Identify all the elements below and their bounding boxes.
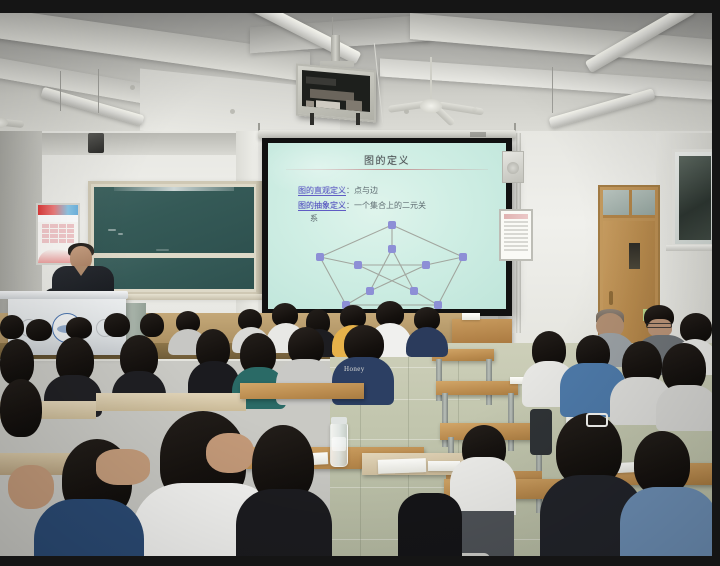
letterbox-bottom [0, 556, 720, 566]
speaker-cone-icon [507, 162, 519, 174]
chalkboard-lower-panel [94, 258, 254, 289]
student-desk [436, 381, 518, 395]
foreground-student-shirt [34, 499, 144, 556]
projector-part [306, 76, 336, 86]
notice-row [504, 233, 528, 235]
projector-cage [296, 64, 376, 123]
backpack [530, 409, 552, 455]
window-sill [666, 245, 712, 251]
notice-row [504, 241, 528, 243]
chalk-dust [114, 187, 234, 191]
light-hanger-wire [60, 71, 61, 111]
fluorescent-tube-light [549, 88, 656, 128]
fan-hub [420, 99, 442, 113]
desk-front-panel [96, 393, 246, 411]
student-shirt [656, 385, 712, 431]
notice-row [504, 225, 528, 227]
podium-desktop[interactable] [0, 291, 128, 299]
poster-cell [59, 229, 66, 233]
bullet-key: 图的直观定义 [298, 186, 346, 196]
student-arm [96, 449, 150, 485]
projector-cage-bolt [310, 113, 314, 125]
slide-bullet-1: 图的直观定义：点与边 [298, 185, 378, 196]
chalk-mark [108, 229, 116, 231]
poster-cell [59, 239, 66, 243]
poster-cell [67, 224, 74, 228]
chalkboard-upper-panel [94, 187, 254, 253]
chalk-mark [118, 233, 123, 235]
student-head [0, 339, 34, 385]
notice-row [504, 229, 528, 231]
projector-mount-stem [331, 35, 340, 63]
slide-title: 图的定义 [268, 152, 506, 167]
poster-cell [59, 224, 66, 228]
wall-shadow-strip [42, 133, 237, 155]
poster-title-area [38, 215, 78, 222]
door-mullion [629, 190, 632, 218]
letterbox-top [0, 0, 720, 13]
door-handle[interactable] [609, 291, 613, 305]
student-head [104, 313, 130, 337]
foreground-student-shirt [236, 489, 332, 556]
poster-cell [50, 234, 57, 238]
notice-header [504, 214, 528, 219]
foreground-student-head [634, 431, 690, 495]
shirt-graphic: Honey [344, 365, 378, 375]
student-head [140, 313, 164, 337]
foreground-student-shirt [620, 487, 712, 556]
student-arm [8, 465, 54, 509]
student-arm [206, 433, 254, 473]
student-head [26, 319, 52, 341]
notebook [378, 458, 426, 474]
screen-brand-label [470, 132, 486, 137]
poster-cell [67, 239, 74, 243]
framed-notice-board [499, 209, 533, 261]
bullet-sep: ： [346, 201, 354, 210]
lecture-hall-photo: 图的定义 图的直观定义：点与边 图的抽象定义：一个集合上的二元关 系 [0, 13, 712, 556]
poster-cell [59, 234, 66, 238]
glasses-icon [646, 323, 672, 328]
projector-part [346, 100, 362, 112]
wall-speaker-black [88, 133, 104, 153]
poster-cell [50, 229, 57, 233]
chalk-mark [156, 249, 169, 251]
paper-on-desk [462, 313, 480, 320]
notice-row [504, 237, 528, 239]
bullet-key: 图的抽象定义 [298, 201, 346, 211]
poster-cell [42, 234, 49, 238]
projector-screen: 图的定义 图的直观定义：点与边 图的抽象定义：一个集合上的二元关 系 [262, 138, 512, 316]
poster-cell [50, 224, 57, 228]
door-vision-panel [629, 243, 640, 269]
classroom-window [672, 149, 712, 247]
letterbox-right [712, 0, 720, 566]
light-hanger-wire [98, 69, 99, 113]
back-desk [452, 319, 512, 345]
poster-cell [67, 234, 74, 238]
hair-clip-icon [586, 413, 608, 427]
student-head [66, 317, 92, 339]
bullet-value: 一个集合上的二元关 [354, 201, 426, 210]
slide-bullet-2: 图的抽象定义：一个集合上的二元关 [298, 200, 426, 211]
slide-surface: 图的定义 图的直观定义：点与边 图的抽象定义：一个集合上的二元关 系 [268, 143, 506, 309]
poster-cell [50, 239, 57, 243]
poster-grid [42, 224, 74, 243]
notice-row [504, 221, 528, 223]
window-glass [679, 156, 711, 240]
poster-cell [42, 224, 49, 228]
fan-rod [430, 57, 432, 101]
ceiling-fixture-dot [130, 85, 135, 90]
poster-cell [42, 239, 49, 243]
projector-body [302, 70, 370, 112]
ceiling-fixture-dot [230, 109, 235, 114]
water-bottle-cap [331, 417, 347, 424]
projector-lens [316, 100, 340, 112]
light-hanger-wire [552, 67, 553, 113]
notice-row [504, 245, 528, 247]
student-head [0, 379, 42, 437]
student-bag [398, 493, 462, 556]
bottle-label [332, 437, 346, 451]
bullet-value: 点与边 [354, 186, 378, 195]
poster-cell [42, 229, 49, 233]
poster-header-band [38, 205, 78, 215]
notice-row [504, 249, 528, 251]
petersen-graph [308, 221, 476, 309]
projector-cage-bolt [356, 113, 360, 125]
slide-title-rule [286, 169, 488, 170]
bullet-sep: ： [346, 186, 354, 195]
projector-part [306, 100, 314, 109]
desk-leg [508, 393, 514, 451]
student-desk [240, 383, 364, 399]
wall-speaker [502, 151, 524, 183]
poster-cell [67, 229, 74, 233]
student-head [0, 315, 24, 339]
